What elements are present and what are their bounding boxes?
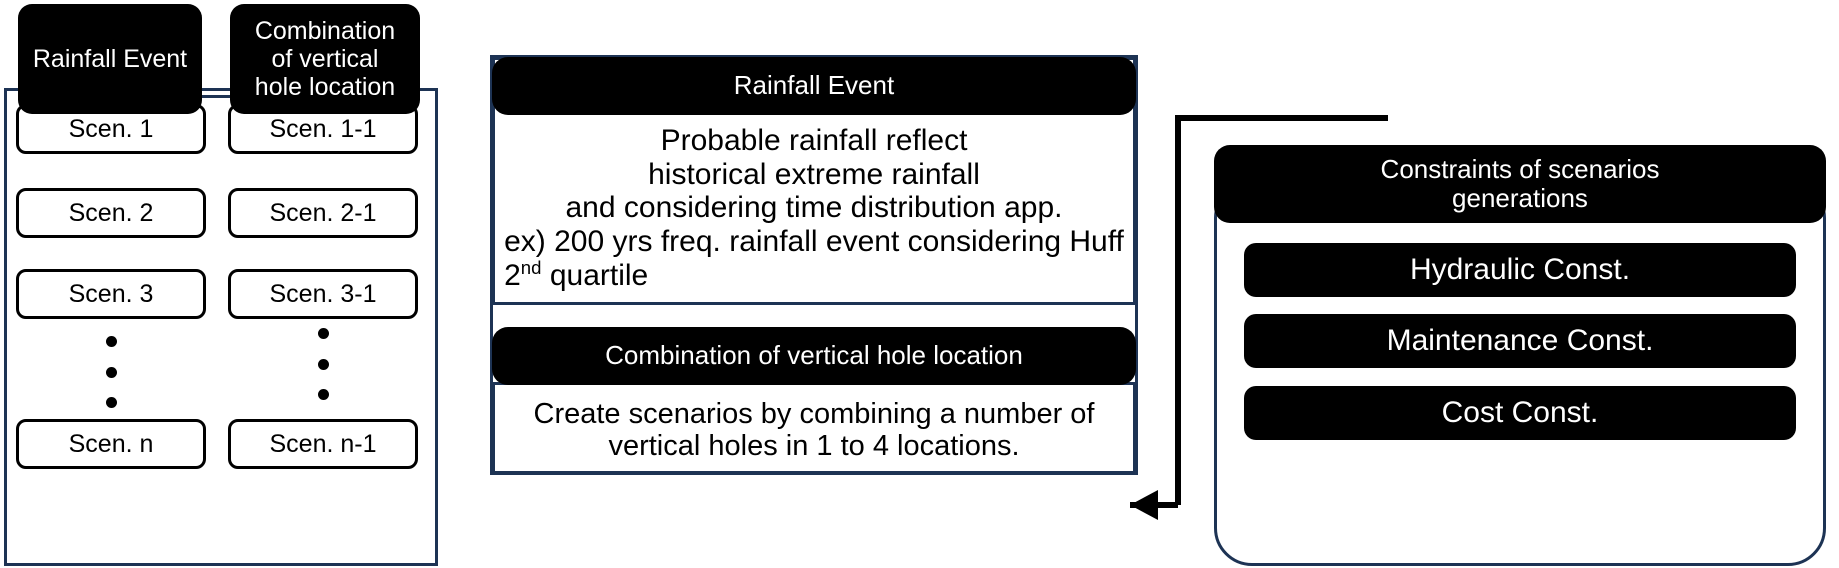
dot — [106, 367, 117, 378]
list-item[interactable]: Scen. 3 — [16, 269, 206, 319]
left-column-2-header: Combination of vertical hole location — [230, 4, 420, 114]
list-item[interactable]: Scen. n — [16, 419, 206, 469]
quartile-ordinal-suffix: nd — [521, 257, 542, 278]
body-line: Create scenarios by combining a number o… — [534, 398, 1095, 430]
scenario-label: Scen. 2 — [69, 199, 154, 228]
scenario-label: Scen. n — [69, 430, 154, 459]
left-group-frame — [4, 88, 438, 566]
constraint-item-cost[interactable]: Cost Const. — [1244, 386, 1796, 440]
list-item[interactable]: Scen. 3-1 — [228, 269, 418, 319]
body-line: vertical holes in 1 to 4 locations. — [608, 430, 1019, 462]
combination-card-header: Combination of vertical hole location — [492, 327, 1136, 385]
quartile-word: quartile — [541, 259, 648, 292]
constraint-label: Maintenance Const. — [1387, 324, 1654, 358]
hdr-line-2: of vertical — [272, 45, 379, 73]
constraint-item-hydraulic[interactable]: Hydraulic Const. — [1244, 243, 1796, 297]
scenario-label: Scen. n-1 — [269, 430, 376, 459]
list-item[interactable]: Scen. 2-1 — [228, 188, 418, 238]
vertical-dots-icon — [16, 336, 206, 408]
constraints-group-header: Constraints of scenarios generations — [1214, 145, 1826, 223]
hdr-line-3: hole location — [255, 73, 395, 101]
dot — [106, 336, 117, 347]
scenario-label: Scen. 3 — [69, 280, 154, 309]
scenario-label: Scen. 1-1 — [269, 115, 376, 144]
rainfall-event-card-header: Rainfall Event — [492, 57, 1136, 115]
dot — [106, 397, 117, 408]
rainfall-event-card-body: Probable rainfall reflect historical ext… — [500, 122, 1128, 298]
scenario-label: Scen. 1 — [69, 115, 154, 144]
constraints-header-line-2: generations — [1452, 183, 1588, 213]
combination-card-body: Create scenarios by combining a number o… — [500, 392, 1128, 468]
rainfall-event-card-header-label: Rainfall Event — [734, 71, 894, 100]
constraints-group-header-label: Constraints of scenarios generations — [1381, 155, 1660, 213]
scenario-label: Scen. 2-1 — [269, 199, 376, 228]
left-column-2-header-label: Combination of vertical hole location — [255, 17, 395, 101]
constraint-item-maintenance[interactable]: Maintenance Const. — [1244, 314, 1796, 368]
list-item[interactable]: Scen. 2 — [16, 188, 206, 238]
left-column-1-header-label: Rainfall Event — [33, 45, 187, 73]
quartile-number: 2 — [504, 259, 521, 292]
constraint-label: Cost Const. — [1442, 396, 1599, 430]
left-column-1-header: Rainfall Event — [18, 4, 202, 114]
list-item[interactable]: Scen. n-1 — [228, 419, 418, 469]
body-line-quartile: 2nd quartile — [504, 258, 1124, 293]
body-line: historical extreme rainfall — [504, 158, 1124, 192]
dot — [318, 359, 329, 370]
body-line: ex) 200 yrs freq. rainfall event conside… — [504, 225, 1124, 259]
body-line: and considering time distribution app. — [504, 191, 1124, 225]
constraints-group-frame — [1214, 180, 1826, 566]
constraints-header-line-1: Constraints of scenarios — [1381, 154, 1660, 184]
constraint-label: Hydraulic Const. — [1410, 253, 1630, 287]
dot — [318, 328, 329, 339]
hdr-line-1: Combination — [255, 17, 395, 45]
vertical-dots-icon — [228, 328, 418, 400]
body-line: Probable rainfall reflect — [504, 124, 1124, 158]
combination-card-header-label: Combination of vertical hole location — [605, 341, 1023, 370]
scenario-label: Scen. 3-1 — [269, 280, 376, 309]
dot — [318, 389, 329, 400]
diagram-canvas: Rainfall Event Combination of vertical h… — [0, 0, 1839, 568]
